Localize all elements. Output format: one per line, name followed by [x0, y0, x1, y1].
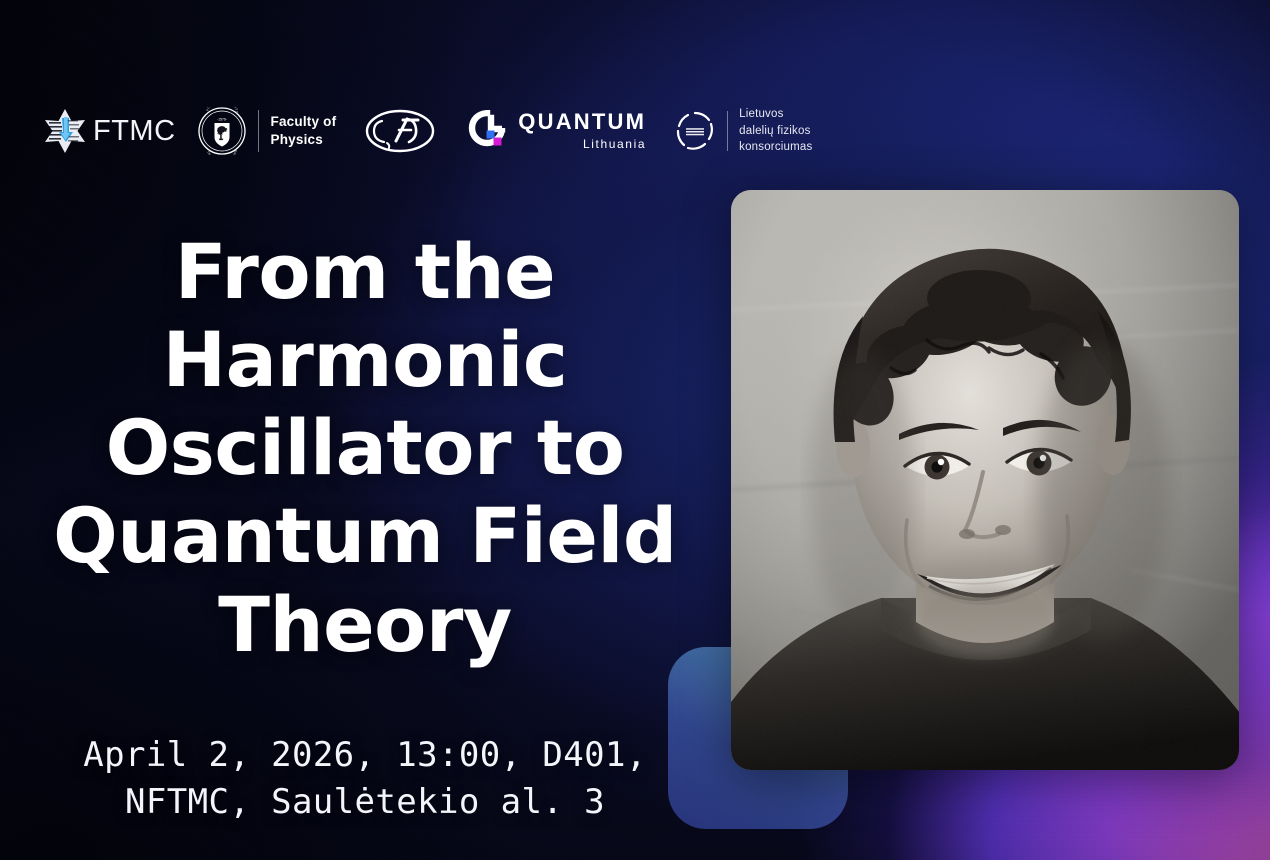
sponsor-logo-bar: FTMC VILNIUS UNIVERSITY UNIVERSITAS VILN…: [42, 100, 812, 162]
quantum-wordmark: QUANTUM Lithuania: [518, 111, 646, 151]
vu-physics-line1: Faculty of: [271, 114, 337, 129]
logo-divider: [258, 110, 259, 152]
vu-physics-label: Faculty of Physics: [271, 113, 337, 149]
logo-ldfk: Lietuvos dalelių fizikos konsorciumas: [674, 106, 812, 156]
event-details: April 2, 2026, 13:00, D401, NFTMC, Saulė…: [40, 732, 690, 826]
logo-quantum-lithuania: QUANTUM Lithuania: [466, 110, 646, 152]
ftmc-star-icon: [42, 108, 88, 154]
event-title: From the Harmonic Oscillator to Quantum …: [40, 228, 690, 669]
quantum-title: QUANTUM: [518, 111, 646, 133]
quantum-subtitle: Lithuania: [583, 137, 646, 151]
svg-text:-1579-: -1579-: [217, 118, 227, 122]
event-poster: FTMC VILNIUS UNIVERSITY UNIVERSITAS VILN…: [0, 0, 1270, 860]
quantum-q-icon: [466, 110, 508, 152]
vu-physics-line2: Physics: [271, 132, 323, 147]
ldfk-label: Lietuvos dalelių fizikos konsorciumas: [739, 106, 812, 156]
logo-lfd: [362, 107, 438, 155]
ldfk-line2: dalelių fizikos: [739, 125, 810, 137]
vu-seal-icon: VILNIUS UNIVERSITY UNIVERSITAS VILNENSIS…: [198, 107, 246, 155]
ldfk-line1: Lietuvos: [739, 108, 783, 120]
speaker-portrait: [731, 190, 1239, 770]
ldfk-line3: konsorciumas: [739, 141, 812, 153]
ldfk-ring-icon: [674, 110, 716, 152]
ftmc-wordmark: FTMC: [93, 115, 176, 148]
logo-ftmc: FTMC: [42, 108, 176, 154]
logo-divider: [727, 111, 728, 151]
lfd-monogram-icon: [362, 107, 438, 155]
logo-vu-physics: VILNIUS UNIVERSITY UNIVERSITAS VILNENSIS…: [198, 107, 337, 155]
